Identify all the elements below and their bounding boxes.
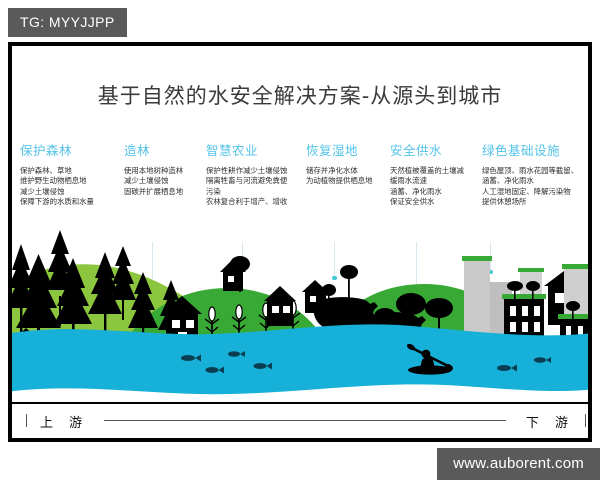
house-icon <box>264 286 296 326</box>
page-title: 基于自然的水安全解决方案-从源头到城市 <box>12 80 588 110</box>
green-roof <box>462 256 492 261</box>
body-line: 涵蓄、净化雨水 <box>482 176 588 186</box>
axis-label-upstream: 上 游 <box>40 412 88 431</box>
axis-line <box>104 420 506 421</box>
axis-cap-left <box>26 414 27 427</box>
green-roof <box>518 268 544 272</box>
watermark: www.auborent.com <box>437 448 600 480</box>
body-line: 绿色屋顶、雨水花园等截留、 <box>482 166 588 176</box>
column-header: 智慧农业 <box>206 140 314 159</box>
body-line: 隔离牲畜与河流避免粪便 <box>206 176 314 186</box>
body-line: 维护野生动物栖息地 <box>20 176 132 186</box>
column-header: 绿色基础设施 <box>482 140 588 159</box>
body-line: 保护森林、草地 <box>20 166 132 176</box>
axis-cap-right <box>585 414 586 427</box>
landscape-illustration <box>12 196 588 408</box>
body-line: 缓雨水流速 <box>390 176 486 186</box>
stream-axis: 上 游 下 游 <box>12 402 588 438</box>
house-icon <box>302 280 328 313</box>
column-header: 保护森林 <box>20 140 132 159</box>
body-line: 天然植被覆盖的土壤减 <box>390 166 486 176</box>
axis-label-downstream: 下 游 <box>526 412 574 431</box>
tree-icon <box>340 265 358 300</box>
tg-badge: TG: MYYJJPP <box>8 8 127 37</box>
poster-frame: 基于自然的水安全解决方案-从源头到城市 保护森林 保护森林、草地 维护野生动物栖… <box>8 42 592 442</box>
column-header: 安全供水 <box>390 140 486 159</box>
poster-inner: 基于自然的水安全解决方案-从源头到城市 保护森林 保护森林、草地 维护野生动物栖… <box>12 46 588 438</box>
body-line: 保护性耕作减少土壤侵蚀 <box>206 166 314 176</box>
green-roof <box>562 264 588 269</box>
